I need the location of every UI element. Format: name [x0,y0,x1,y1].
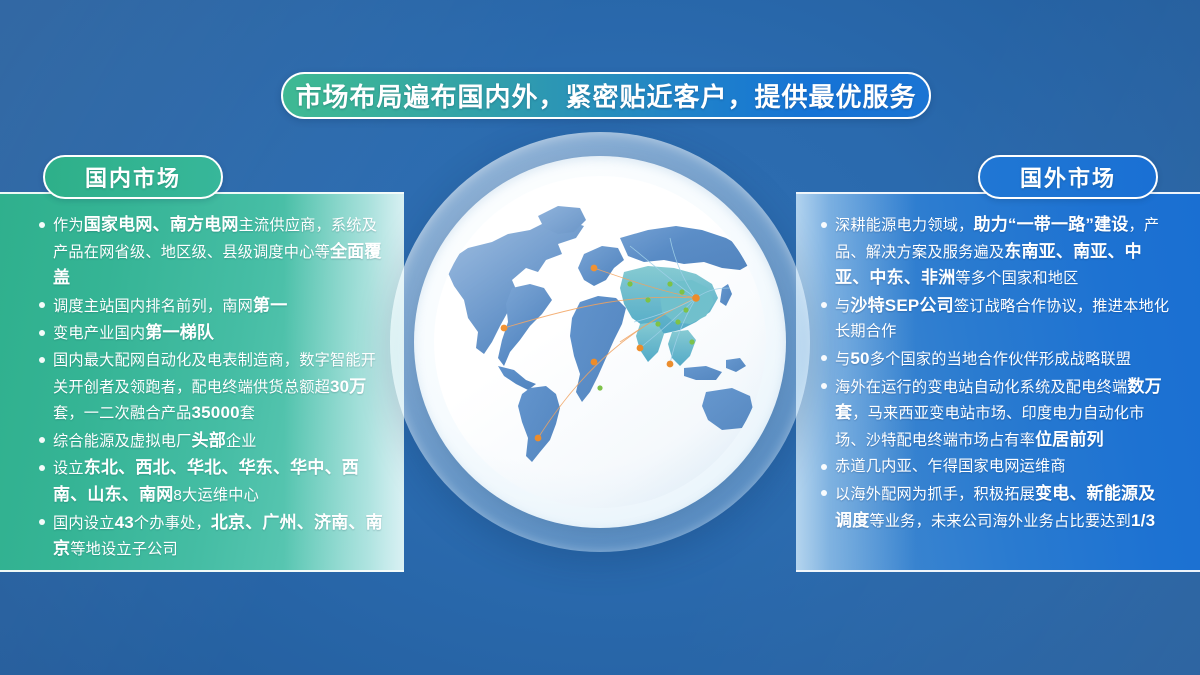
list-item-emphasis: 第一梯队 [145,323,214,342]
list-item-emphasis: 50 [850,349,869,368]
panel-rule-bottom [0,570,404,572]
list-item-text: 调度主站国内排名前列，南网 [53,298,253,315]
list-item-text: 变电产业国内 [53,325,145,342]
overseas-market-list: 深耕能源电力领域，助力“一带一路”建设，产品、解决方案及服务遍及东南亚、南亚、中… [818,212,1170,535]
list-item-text: 设立 [53,460,84,477]
list-item-emphasis: 30万 [330,377,367,396]
list-item-text: 等地设立子公司 [70,541,178,558]
bullet-dot-icon [39,330,45,336]
list-item-text: 综合能源及虚拟电厂 [53,433,192,450]
list-item-text: 与 [835,298,850,315]
tab-domestic-market[interactable]: 国内市场 [43,155,223,199]
tab-overseas-market-label: 国外市场 [1020,161,1116,193]
list-item-text: 企业 [226,433,257,450]
slide-title-banner: 市场布局遍布国内外，紧密贴近客户，提供最优服务 [281,72,931,119]
list-item: 深耕能源电力领域，助力“一带一路”建设，产品、解决方案及服务遍及东南亚、南亚、中… [818,212,1170,292]
list-item-text: 等多个国家和地区 [955,270,1078,287]
world-map-svg [434,176,766,508]
globe-map-disc [434,176,766,508]
bullet-dot-icon [821,302,827,308]
world-map-globe [390,132,810,552]
list-item-emphasis: 第一 [253,296,287,315]
bullet-dot-icon [821,490,827,496]
list-item-text: 国内最大配网自动化及电表制造商，数字智能开关开创者及领跑者，配电终端供货总额超 [53,352,376,396]
bullet-dot-icon [821,355,827,361]
list-item-text: 与 [835,351,850,368]
list-item: 与沙特SEP公司签订战略合作协议，推进本地化长期合作 [818,293,1170,345]
list-item-text: 等业务，未来公司海外业务占比要达到 [869,513,1131,530]
tab-overseas-market[interactable]: 国外市场 [978,155,1158,199]
list-item-emphasis: 位居前列 [1035,430,1104,449]
bullet-dot-icon [39,222,45,228]
bullet-dot-icon [821,464,827,470]
list-item-text: 8大运维中心 [173,487,259,504]
list-item: 作为国家电网、南方电网主流供应商，系统及产品在网省级、地区级、县级调度中心等全面… [36,212,384,292]
domestic-market-list: 作为国家电网、南方电网主流供应商，系统及产品在网省级、地区级、县级调度中心等全面… [36,212,384,564]
list-item-emphasis: 35000 [192,403,240,422]
list-item-emphasis: 助力“一带一路”建设 [974,215,1129,234]
list-item-text: 赤道几内亚、乍得国家电网运维商 [835,458,1066,475]
list-item-emphasis: 国家电网、南方电网 [84,215,239,234]
bullet-dot-icon [39,437,45,443]
list-item: 国内最大配网自动化及电表制造商，数字智能开关开创者及领跑者，配电终端供货总额超3… [36,348,384,427]
bullet-dot-icon [821,222,827,228]
list-item-text: 以海外配网为抓手，积极拓展 [835,486,1035,503]
list-item-text: 国内设立 [53,515,115,532]
list-item-text: 个办事处， [134,515,211,532]
list-item: 以海外配网为抓手，积极拓展变电、新能源及调度等业务，未来公司海外业务占比要达到1… [818,481,1170,534]
list-item-text: 套 [240,405,255,422]
bullet-dot-icon [39,519,45,525]
list-item: 与50多个国家的当地合作伙伴形成战略联盟 [818,346,1170,373]
bullet-dot-icon [39,465,45,471]
list-item: 变电产业国内第一梯队 [36,320,384,347]
list-item: 调度主站国内排名前列，南网第一 [36,293,384,320]
list-item-text: 深耕能源电力领域， [835,217,974,234]
list-item-emphasis: 43 [115,513,134,532]
panel-rule-bottom [796,570,1200,572]
slide-root: 市场布局遍布国内外，紧密贴近客户，提供最优服务 国内市场 国外市场 作为国家电网… [0,0,1200,675]
list-item-emphasis: 1/3 [1131,511,1155,530]
bullet-dot-icon [39,302,45,308]
list-item-emphasis: 头部 [192,431,226,450]
list-item: 赤道几内亚、乍得国家电网运维商 [818,454,1170,480]
list-item: 国内设立43个办事处，北京、广州、济南、南京等地设立子公司 [36,510,384,563]
tab-domestic-market-label: 国内市场 [85,161,181,193]
list-item-text: 作为 [53,217,84,234]
page-title: 市场布局遍布国内外，紧密贴近客户，提供最优服务 [295,77,916,114]
list-item-text: 多个国家的当地合作伙伴形成战略联盟 [870,351,1132,368]
list-item: 综合能源及虚拟电厂头部企业 [36,428,384,455]
list-item-text: 套，一二次融合产品 [53,405,192,422]
list-item: 设立东北、西北、华北、华东、华中、西南、山东、南网8大运维中心 [36,455,384,508]
bullet-dot-icon [821,383,827,389]
list-item-emphasis: 沙特SEP公司 [850,296,953,315]
list-item-text: 海外在运行的变电站自动化系统及配电终端 [835,379,1127,396]
bullet-dot-icon [39,357,45,363]
list-item: 海外在运行的变电站自动化系统及配电终端数万套，马来西亚变电站市场、印度电力自动化… [818,374,1170,454]
